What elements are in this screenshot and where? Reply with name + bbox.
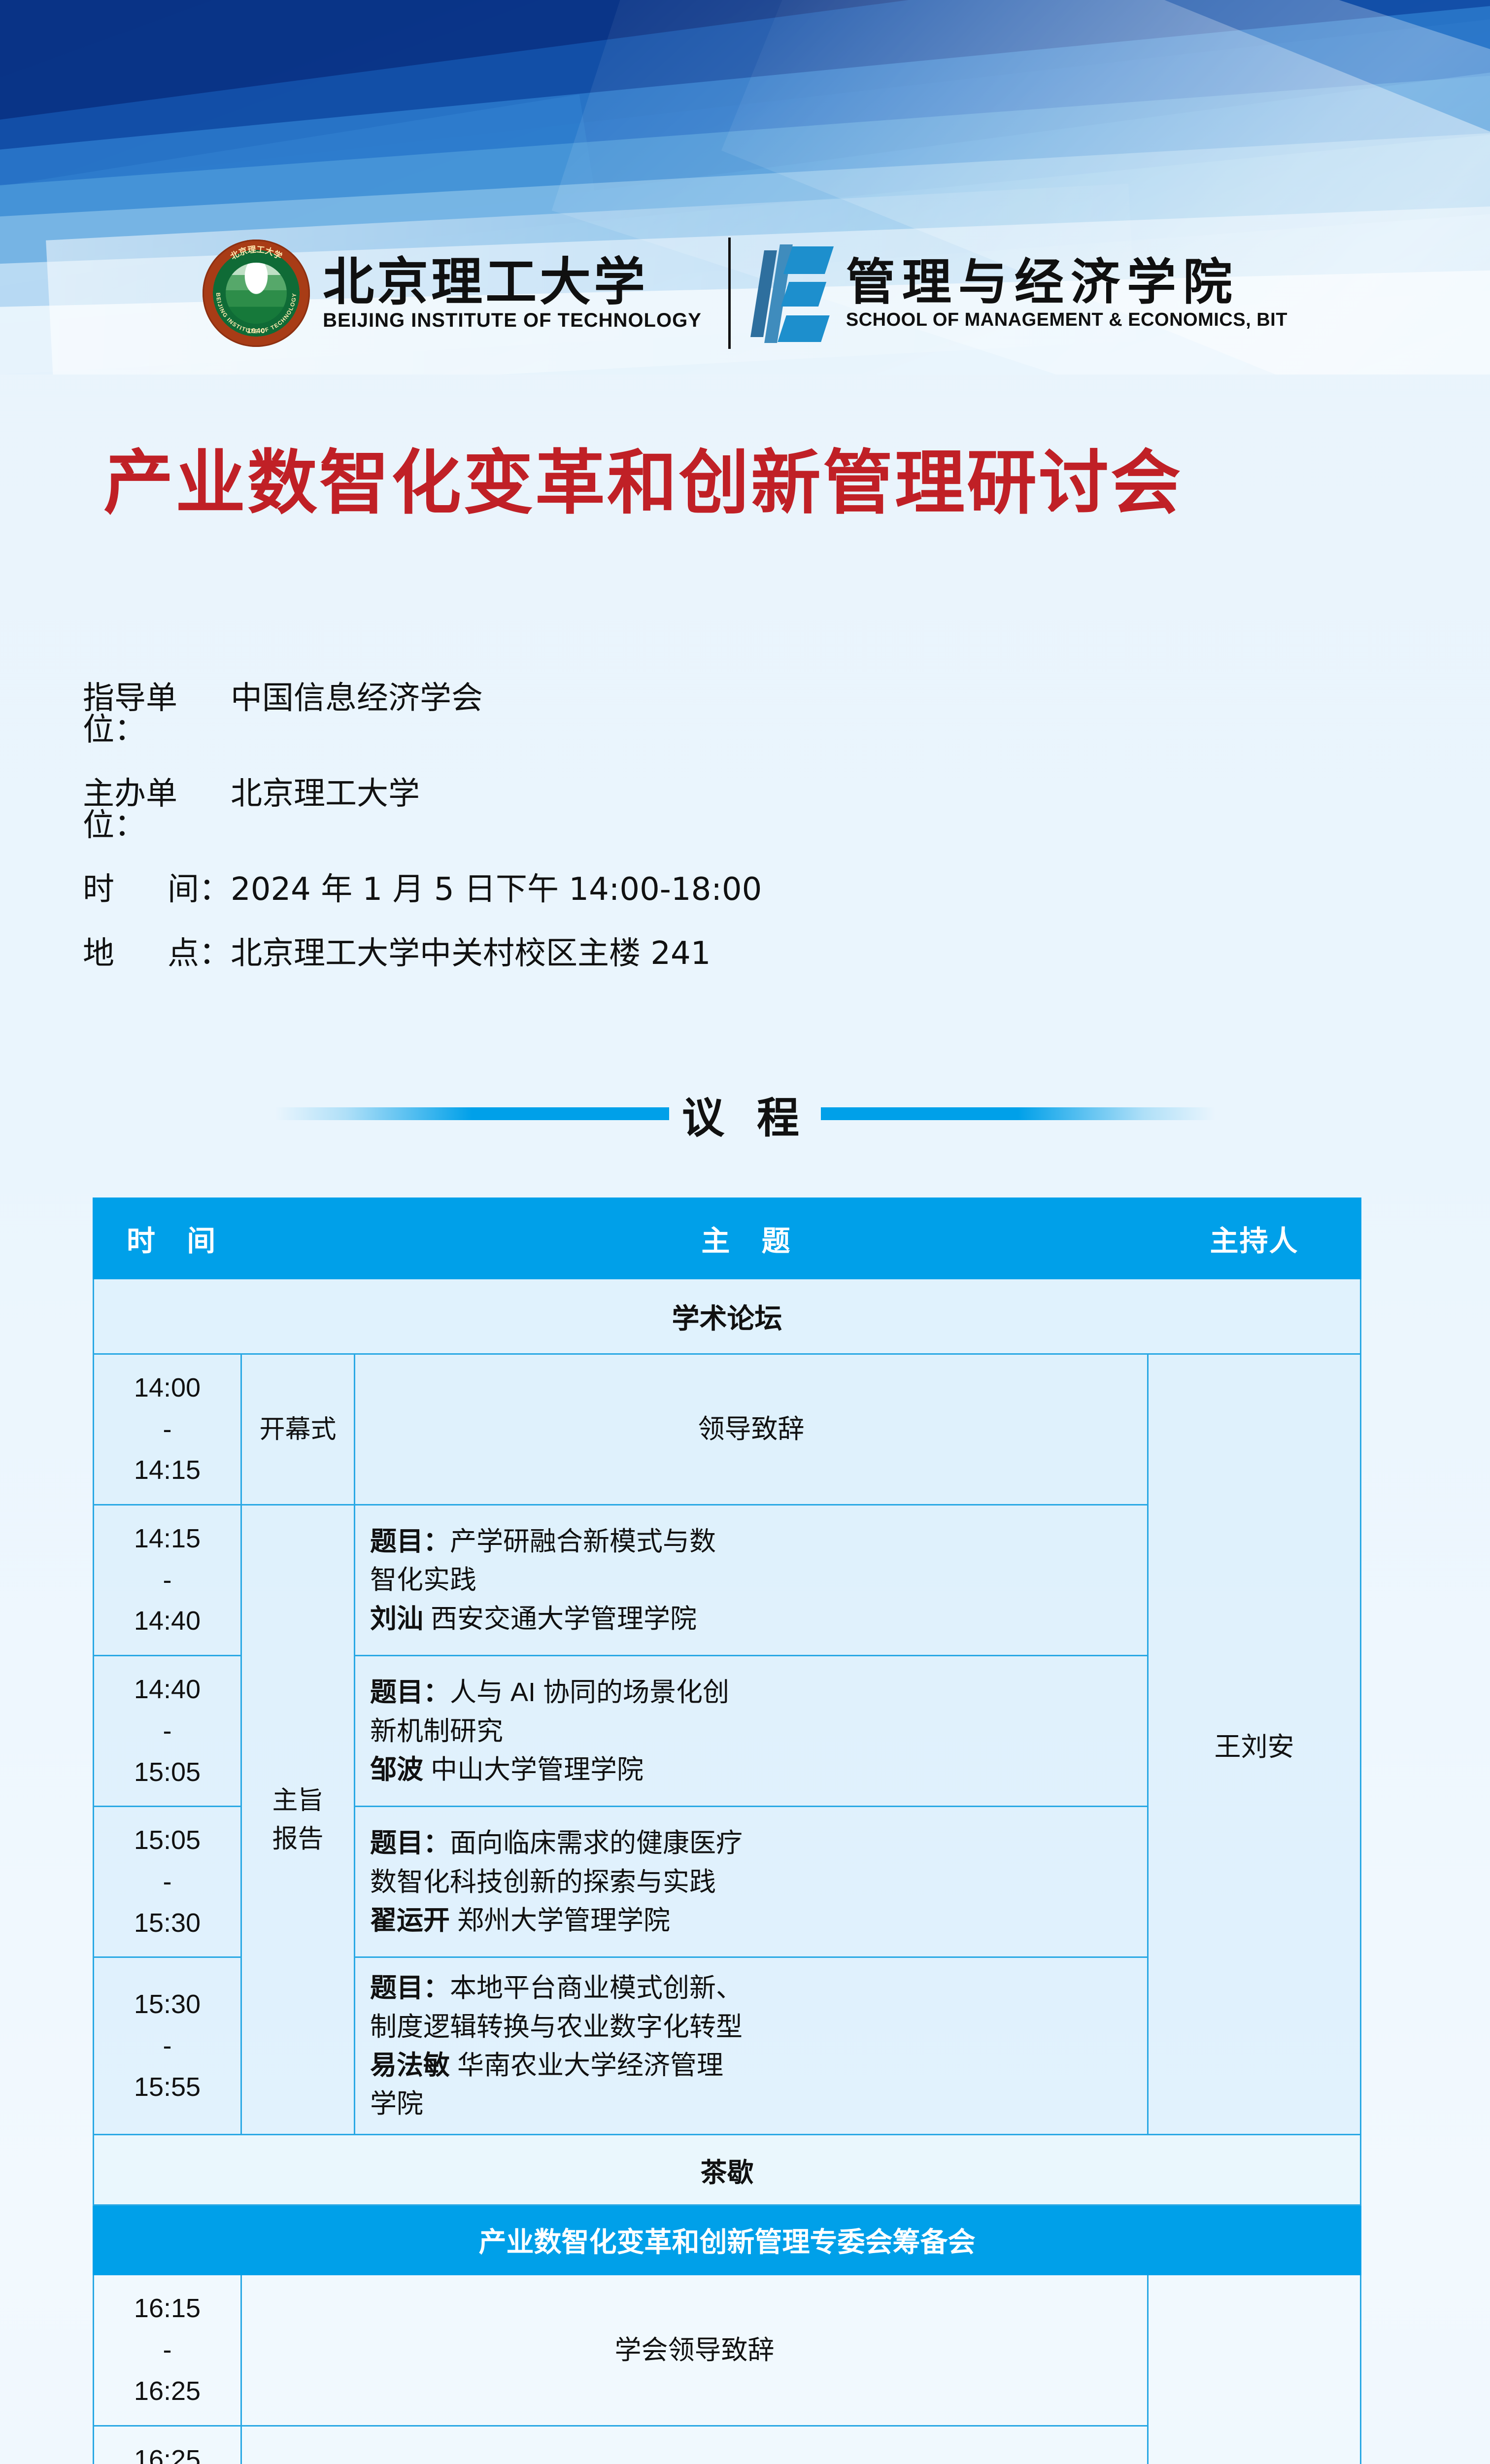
info-line-label: 时间： — [83, 874, 231, 905]
svg-text:北京理工大学: 北京理工大学 — [229, 245, 284, 262]
col-header-topic: 主 题 — [355, 1198, 1148, 1279]
title-wrap: 产业数智化变革和创新管理研讨会 — [0, 444, 1490, 523]
cell-topic: 领导致辞 — [355, 1354, 1148, 1505]
cell-time: 16:25-16:35 — [94, 2426, 241, 2464]
cell-time: 14:40-15:05 — [94, 1656, 241, 1807]
agenda-rule-right — [821, 1107, 1215, 1120]
table-row: 14:00-14:15开幕式领导致辞王刘安 — [94, 1354, 1361, 1505]
cell-topic: 学会领导致辞 — [241, 2275, 1148, 2426]
cell-topic: 介绍专委会筹备的基本情况 — [241, 2426, 1148, 2464]
info-line-value: 北京理工大学 — [231, 778, 1265, 810]
break-label: 茶歇 — [94, 2135, 1361, 2205]
table-header-row: 时 间 主 题 主持人 — [94, 1198, 1361, 1279]
cell-stage: 主旨报告 — [241, 1505, 355, 2135]
bit-name-cn: 北京理工大学 — [323, 256, 702, 308]
info-line-label: 地点： — [83, 938, 231, 969]
agenda-heading-label: 议 程 — [669, 1083, 821, 1145]
agenda-table: 时 间 主 题 主持人 学术论坛14:00-14:15开幕式领导致辞王刘安14:… — [93, 1198, 1361, 2464]
info-line-label: 指导单位： — [83, 683, 231, 746]
table-section-row: 学术论坛 — [94, 1279, 1361, 1354]
cell-topic: 题目：本地平台商业模式创新、制度逻辑转换与农业数字化转型易法敏 华南农业大学经济… — [355, 1957, 1148, 2135]
info-line: 指导单位：中国信息经济学会 — [83, 683, 1265, 746]
logo-row: 北京理工大学 BEIJING INSTITUTE OF TECHNOLOGY 1… — [0, 222, 1490, 365]
cell-topic: 题目：产学研融合新模式与数智化实践刘汕 西安交通大学管理学院 — [355, 1505, 1148, 1656]
table-row: 16:15-16:25学会领导致辞王刘安 — [94, 2275, 1361, 2426]
info-line: 地点：北京理工大学中关村校区主楼 241 — [83, 938, 1265, 969]
section-label: 学术论坛 — [94, 1279, 1361, 1354]
sme-mark-icon — [757, 241, 831, 345]
cell-time: 14:00-14:15 — [94, 1354, 241, 1505]
cell-time: 15:30-15:55 — [94, 1957, 241, 2135]
page-title: 产业数智化变革和创新管理研讨会 — [103, 444, 1490, 523]
agenda-rule-left — [275, 1107, 669, 1120]
sme-name-en: SCHOOL OF MANAGEMENT & ECONOMICS, BIT — [846, 310, 1287, 329]
poster-root: 北京理工大学 BEIJING INSTITUTE OF TECHNOLOGY 1… — [0, 0, 1490, 2464]
cell-time: 14:15-14:40 — [94, 1505, 241, 1656]
cell-topic: 题目：面向临床需求的健康医疗数智化科技创新的探索与实践翟运开 郑州大学管理学院 — [355, 1807, 1148, 1957]
bit-seal-icon: 北京理工大学 BEIJING INSTITUTE OF TECHNOLOGY 1… — [203, 240, 310, 347]
table-section-row: 产业数智化变革和创新管理专委会筹备会 — [94, 2205, 1361, 2275]
bit-seal-year: 1940 — [247, 327, 265, 335]
logo-divider — [728, 238, 731, 349]
cell-time: 15:05-15:30 — [94, 1807, 241, 1957]
info-line: 主办单位：北京理工大学 — [83, 778, 1265, 841]
cell-host: 王刘安 — [1148, 1354, 1361, 2135]
sme-logo: 管理与经济学院 SCHOOL OF MANAGEMENT & ECONOMICS… — [757, 241, 1287, 345]
cell-host: 王刘安 — [1148, 2275, 1361, 2464]
table-break-row: 茶歇 — [94, 2135, 1361, 2205]
info-line-value: 北京理工大学中关村校区主楼 241 — [231, 938, 1265, 969]
section-label: 产业数智化变革和创新管理专委会筹备会 — [94, 2205, 1361, 2275]
bit-name-en: BEIJING INSTITUTE OF TECHNOLOGY — [323, 310, 702, 330]
event-info: 指导单位：中国信息经济学会主办单位：北京理工大学时间：2024 年 1 月 5 … — [83, 683, 1265, 1002]
cell-topic: 题目：人与 AI 协同的场景化创新机制研究邹波 中山大学管理学院 — [355, 1656, 1148, 1807]
cell-stage: 开幕式 — [241, 1354, 355, 1505]
bit-logo: 北京理工大学 BEIJING INSTITUTE OF TECHNOLOGY 1… — [203, 240, 702, 347]
col-header-time: 时 间 — [94, 1198, 355, 1279]
col-header-host: 主持人 — [1148, 1198, 1361, 1279]
agenda-heading: 议 程 — [0, 1084, 1490, 1143]
info-line-value: 中国信息经济学会 — [231, 683, 1265, 714]
cell-time: 16:15-16:25 — [94, 2275, 241, 2426]
info-line: 时间：2024 年 1 月 5 日下午 14:00-18:00 — [83, 874, 1265, 905]
info-line-value: 2024 年 1 月 5 日下午 14:00-18:00 — [231, 874, 1265, 905]
info-line-label: 主办单位： — [83, 778, 231, 841]
sme-name-cn: 管理与经济学院 — [846, 257, 1287, 307]
